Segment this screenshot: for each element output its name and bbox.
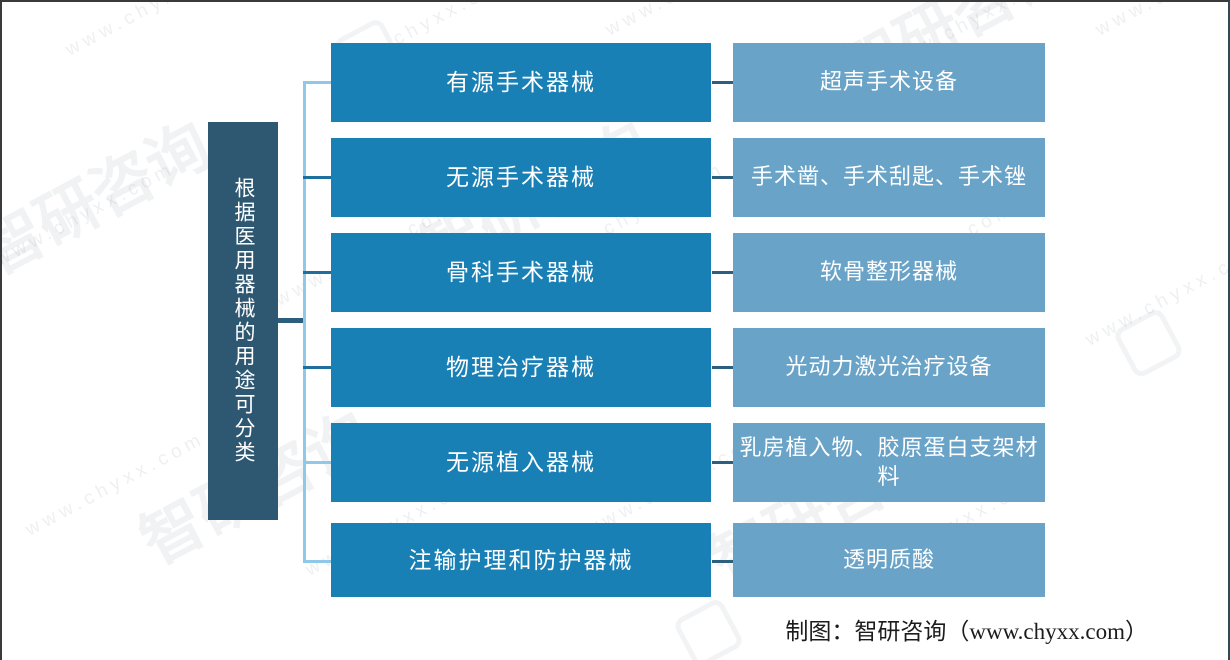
row-link-3	[712, 271, 733, 274]
watermark-site-text: www.chyxx.com	[602, 2, 789, 41]
watermark-logo-badge	[672, 597, 745, 660]
category-box[interactable]: 有源手术器械	[331, 43, 711, 122]
category-label: 有源手术器械	[446, 68, 596, 97]
root-label-text: 根据医用器械的用途可分类	[228, 177, 258, 465]
bracket-stub-row-6	[303, 560, 331, 563]
example-box[interactable]: 乳房植入物、胶原蛋白支架材料	[733, 423, 1045, 502]
watermark-site-text: www.chyxx.com	[1092, 2, 1228, 41]
category-label: 无源植入器械	[446, 448, 596, 477]
row-link-4	[712, 366, 733, 369]
root-connector-stem	[278, 318, 306, 323]
watermark-site-text: www.chyxx.com	[62, 2, 249, 61]
example-label: 透明质酸	[843, 546, 935, 575]
example-box[interactable]: 透明质酸	[733, 523, 1045, 597]
example-label: 乳房植入物、胶原蛋白支架材料	[733, 434, 1045, 491]
category-box[interactable]: 骨科手术器械	[331, 233, 711, 312]
example-box[interactable]: 超声手术设备	[733, 43, 1045, 122]
category-label: 骨科手术器械	[446, 258, 596, 287]
bracket-stub-row-1	[303, 81, 331, 84]
watermark-logo-badge	[1112, 307, 1185, 380]
example-label: 软骨整形器械	[820, 258, 958, 287]
footer-credit: 制图：智研咨询（www.chyxx.com）	[785, 612, 1148, 646]
category-box[interactable]: 注输护理和防护器械	[331, 523, 711, 597]
row-link-1	[712, 81, 733, 84]
category-label: 无源手术器械	[446, 163, 596, 192]
diagram-canvas: www.chyxx.com www.chyxx.com www.chyxx.co…	[0, 0, 1230, 660]
watermark-brand-text: 智研咨询	[2, 96, 223, 292]
example-label: 光动力激光治疗设备	[785, 353, 992, 382]
category-box[interactable]: 物理治疗器械	[331, 328, 711, 407]
example-box[interactable]: 光动力激光治疗设备	[733, 328, 1045, 407]
bracket-stub-row-3	[303, 271, 331, 274]
bracket-stub-row-4	[303, 366, 331, 369]
row-link-5	[712, 461, 733, 464]
category-box[interactable]: 无源手术器械	[331, 138, 711, 217]
example-box[interactable]: 手术凿、手术刮匙、手术锉	[733, 138, 1045, 217]
watermark-site-text: www.chyxx.com	[22, 428, 209, 541]
example-label: 超声手术设备	[820, 68, 958, 97]
category-label: 物理治疗器械	[446, 353, 596, 382]
bracket-stub-row-5	[303, 461, 331, 464]
bracket-trunk	[303, 82, 306, 563]
example-label: 手术凿、手术刮匙、手术锉	[733, 163, 1045, 192]
example-box[interactable]: 软骨整形器械	[733, 233, 1045, 312]
root-label-box: 根据医用器械的用途可分类	[208, 122, 278, 520]
category-label: 注输护理和防护器械	[409, 546, 634, 575]
row-link-6	[712, 560, 733, 563]
watermark-site-text: www.chyxx.com	[1082, 238, 1228, 351]
category-box[interactable]: 无源植入器械	[331, 423, 711, 502]
bracket-stub-row-2	[303, 176, 331, 179]
watermark-site-text: www.chyxx.com	[2, 158, 179, 271]
row-link-2	[712, 176, 733, 179]
